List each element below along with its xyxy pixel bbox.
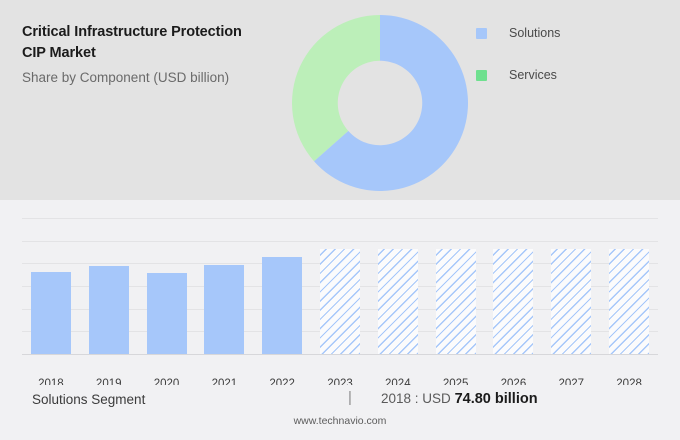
footer: Solutions Segment | 2018 : USD 74.80 bil… [0, 385, 680, 440]
legend-item-solutions[interactable]: Solutions [476, 12, 560, 54]
square-swatch-icon [476, 70, 487, 81]
bar-2022[interactable] [262, 257, 302, 354]
donut-chart [292, 15, 468, 191]
bar-2026[interactable] [493, 249, 533, 354]
page-title-line-1: Critical Infrastructure Protection [22, 22, 312, 43]
page-subtitle: Share by Component (USD billion) [22, 69, 312, 87]
bar-2023[interactable] [320, 249, 360, 354]
x-axis-line [22, 354, 658, 355]
square-swatch-icon [476, 28, 487, 39]
chart-legend: Solutions Services [476, 12, 560, 96]
bar-2020[interactable] [147, 273, 187, 354]
legend-item-label: Services [509, 68, 557, 82]
gridline [22, 218, 658, 219]
bar-2018[interactable] [31, 272, 71, 354]
infographic-page: Critical Infrastructure Protection CIP M… [0, 0, 680, 440]
header-band: Critical Infrastructure Protection CIP M… [0, 0, 680, 200]
bar-2024[interactable] [378, 249, 418, 354]
donut-slice-services[interactable] [292, 15, 380, 161]
bar-2025[interactable] [436, 249, 476, 354]
footer-segment-label: Solutions Segment [32, 392, 145, 407]
bar-2028[interactable] [609, 249, 649, 354]
footer-value-prefix: 2018 : USD [381, 391, 451, 406]
title-block: Critical Infrastructure Protection CIP M… [22, 22, 312, 87]
footer-value-highlight: 74.80 billion [455, 391, 538, 407]
footer-url: www.technavio.com [0, 415, 680, 427]
bar-chart-area: 2018201920202021202220232024202520262027… [0, 200, 680, 385]
legend-item-label: Solutions [509, 26, 560, 40]
footer-separator: | [348, 389, 352, 406]
bar-2019[interactable] [89, 266, 129, 354]
gridline [22, 241, 658, 242]
page-title-line-2: CIP Market [22, 43, 312, 64]
donut-chart-svg [292, 15, 468, 191]
bar-2021[interactable] [204, 265, 244, 354]
bar-chart-plot: 2018201920202021202220232024202520262027… [22, 218, 658, 355]
donut-slices [292, 15, 468, 191]
bar-2027[interactable] [551, 249, 591, 354]
footer-value: 2018 : USD 74.80 billion [381, 391, 538, 407]
legend-item-services[interactable]: Services [476, 54, 560, 96]
